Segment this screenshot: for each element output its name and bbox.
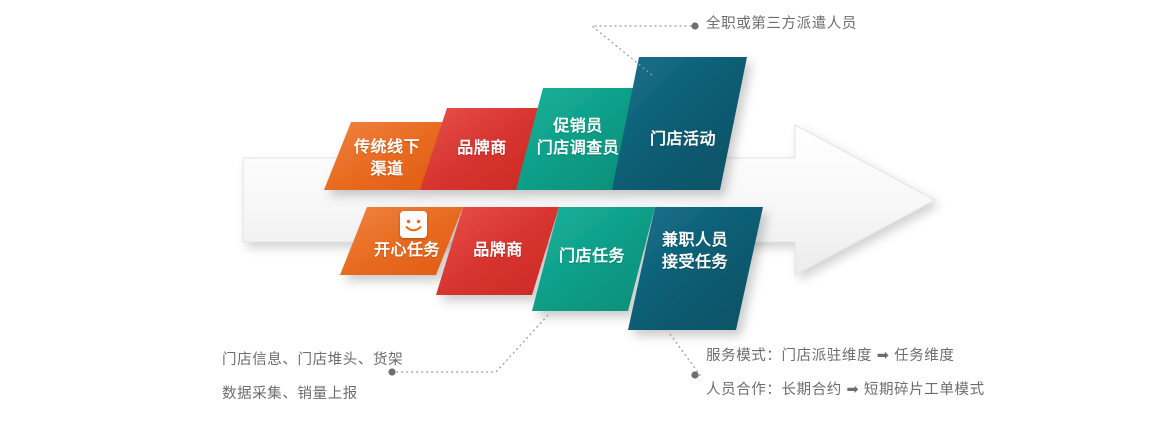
annotation-staffing-model: 全职或第三方派遣人员 [706,12,857,36]
connector-dot-top-right [691,22,698,29]
annotation-data-collection-line2: 数据采集、销量上报 [222,382,403,406]
connector-dot-bottom-right [691,371,698,378]
annotation-staffing-model-line1: 全职或第三方派遣人员 [706,12,857,36]
annotation-data-collection-line1: 门店信息、门店堆头、货架 [222,348,403,372]
smiley-icon [400,211,427,238]
annotation-data-collection: 门店信息、门店堆头、货架 数据采集、销量上报 [222,348,403,406]
connector-bottom-right [670,334,700,375]
annotation-service-model-line1: 服务模式：门店派驻维度 ➡ 任务维度 [706,344,985,368]
annotation-service-model-line2: 人员合作：长期合约 ➡ 短期碎片工单模式 [706,378,985,402]
annotation-service-model: 服务模式：门店派驻维度 ➡ 任务维度 人员合作：长期合约 ➡ 短期碎片工单模式 [706,344,985,402]
connector-bottom-left [393,315,548,372]
top-row-blocks [324,57,747,190]
diagram-canvas: 传统线下 渠道 品牌商 促销员 门店调查员 门店活动 开心任务 品牌商 门店任务… [0,0,1150,430]
